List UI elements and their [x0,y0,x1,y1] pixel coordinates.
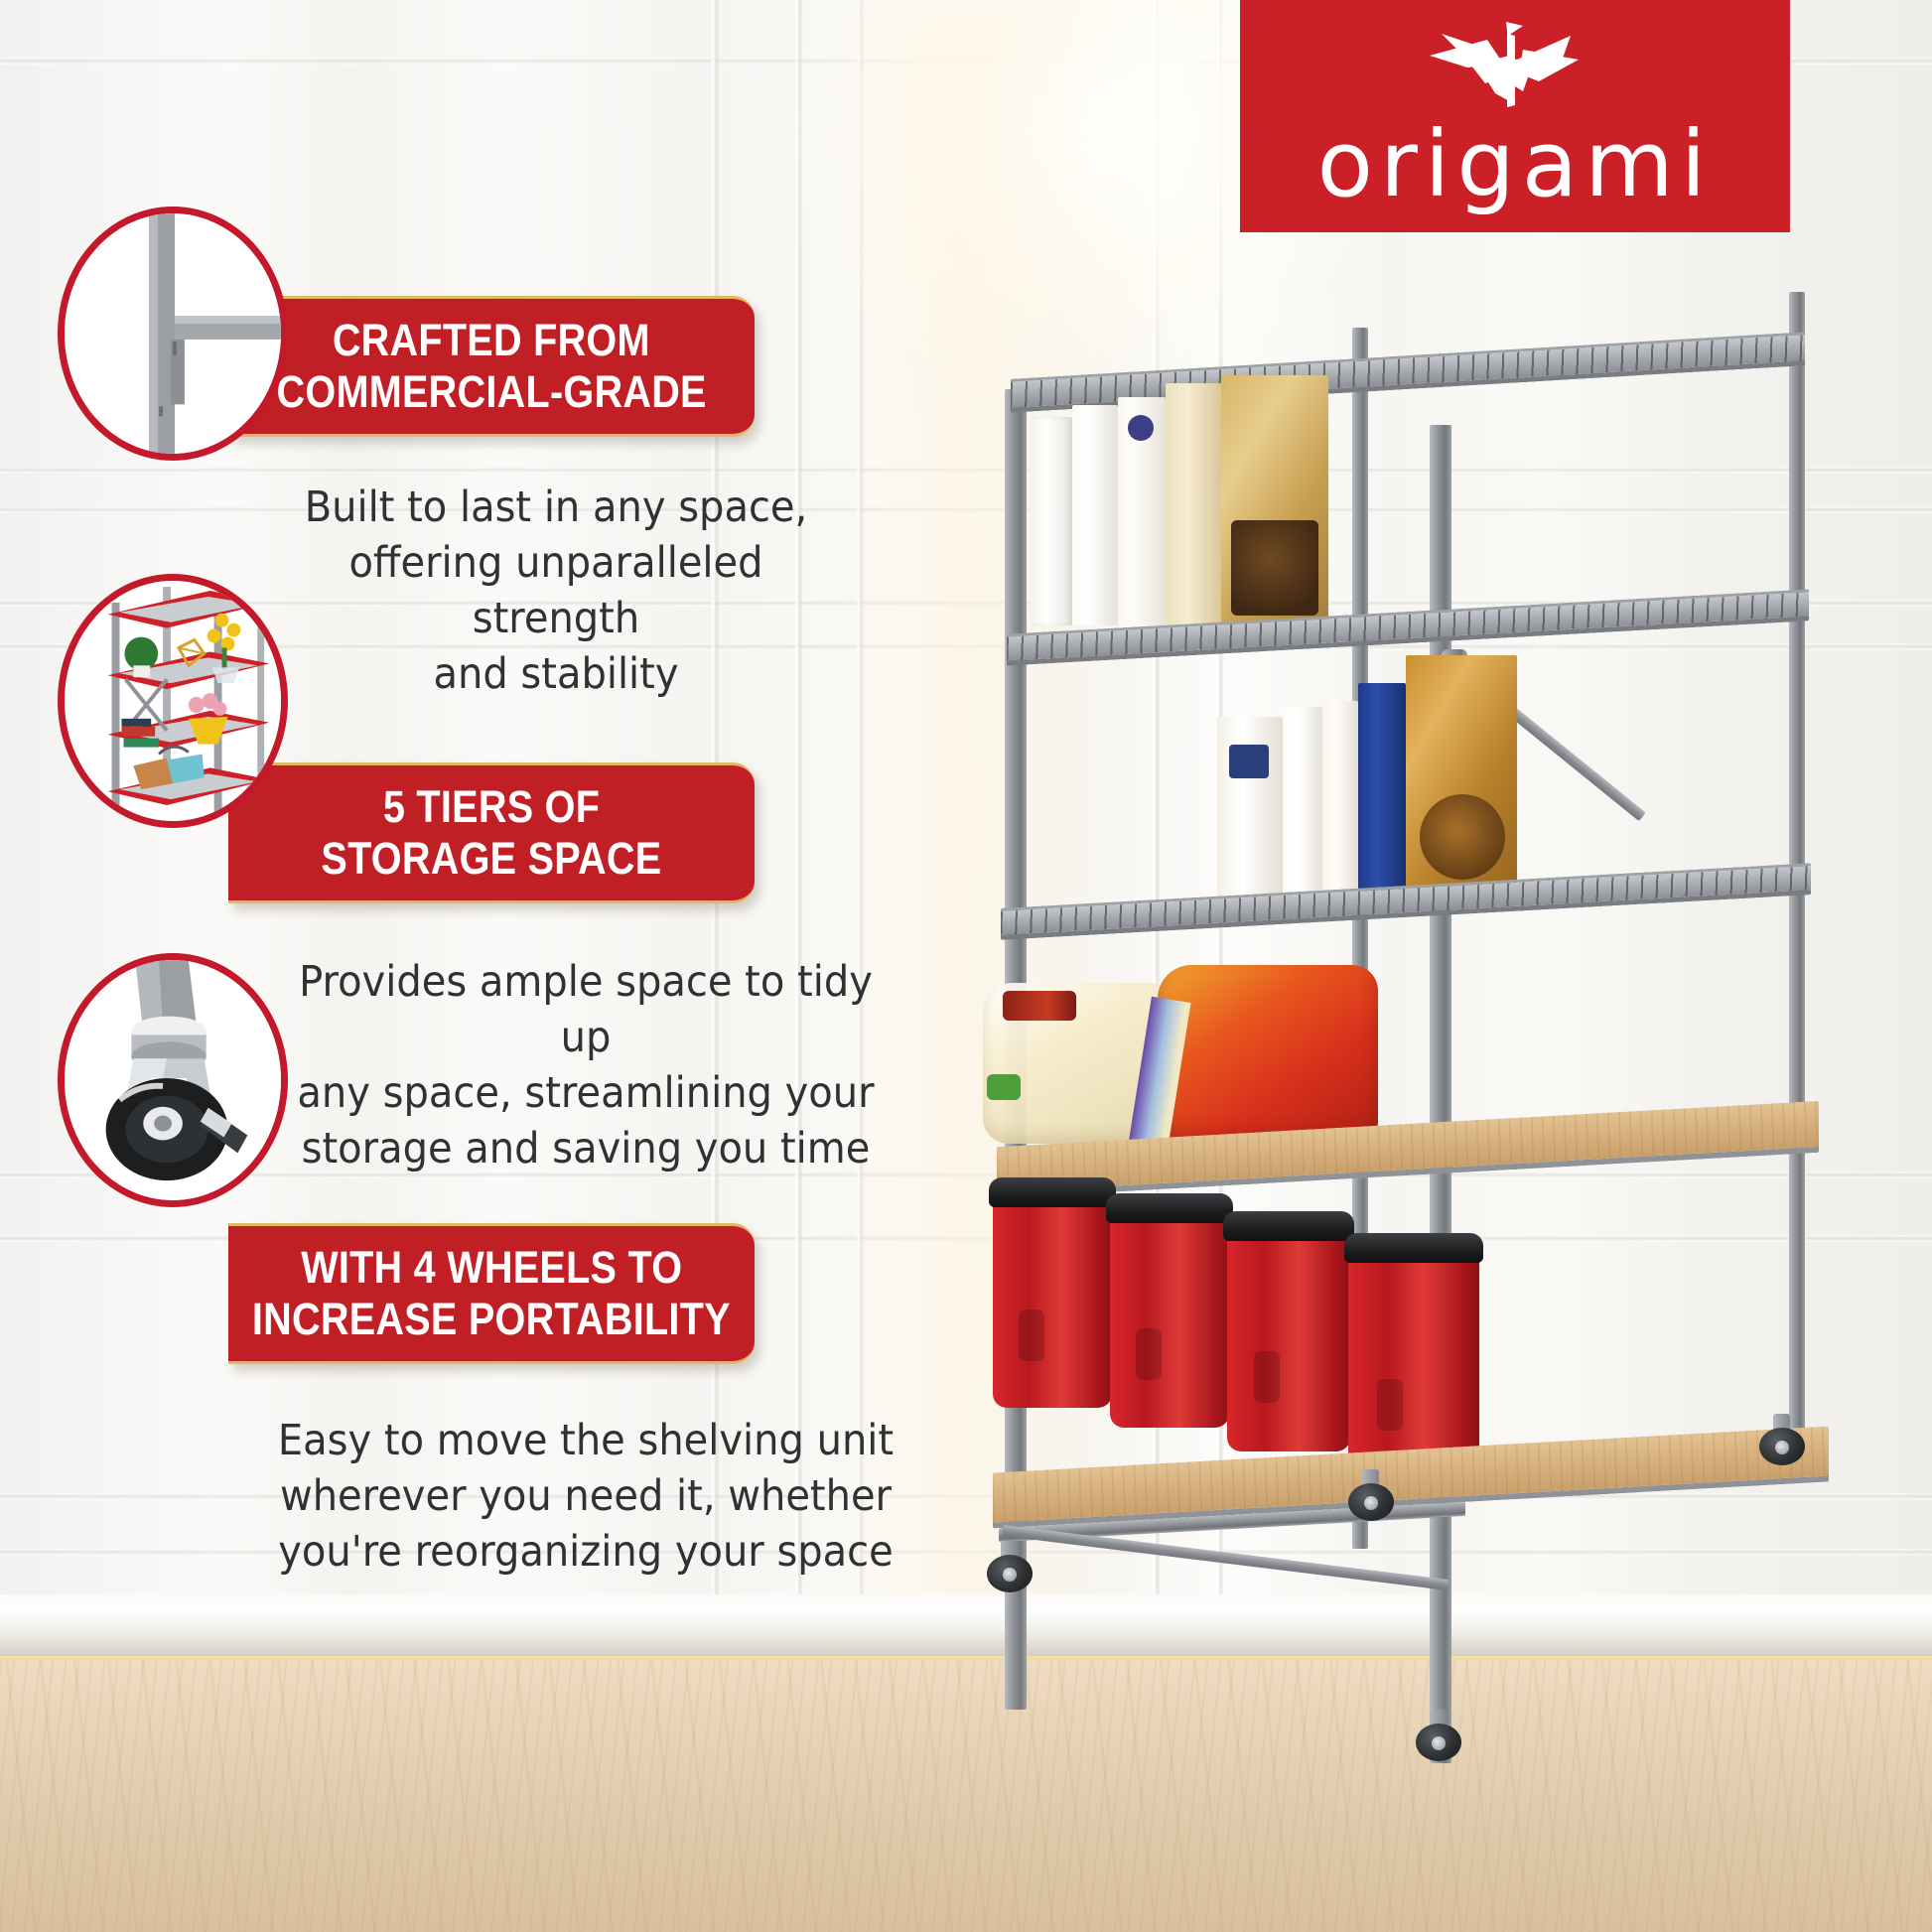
feature-2-banner-line-2: STORAGE SPACE [321,833,661,885]
feature-2-banner-line-1: 5 TIERS OF [383,781,600,833]
canister-grip [1254,1351,1280,1403]
feature-2-description: Provides ample space to tidy up any spac… [272,955,899,1177]
caster-wheel [1348,1469,1394,1521]
feature-3-text-line-1: Easy to move the shelving unit [272,1414,899,1469]
feature-3-text-line-2: wherever you need it, whether [272,1469,899,1525]
blue-cereal-box [1358,683,1406,905]
cereal-box [1166,383,1221,625]
feature-1-banner-line-1: CRAFTED FROM [333,315,650,366]
feature-3-icon-caster-wheel [58,953,288,1207]
feature-2-text-line-2: any space, streamlining your [272,1066,899,1122]
caster-wheel-icon [65,960,281,1200]
caster-wheel [1759,1414,1805,1465]
feature-1-text-line-2: offering unparalleled strength [270,536,843,647]
feature-3-description: Easy to move the shelving unit wherever … [272,1414,899,1581]
feature-1-banner[interactable]: CRAFTED FROM COMMERCIAL-GRADE [228,296,755,437]
granola-box [1221,375,1328,625]
canister-lid [1223,1211,1354,1241]
cracker-box-large [1406,655,1517,905]
cereal-box [1118,397,1166,625]
wall-warm-light [814,0,1142,1660]
red-storage-canister [1110,1213,1229,1428]
canister-grip [1377,1379,1403,1431]
cereal-box [1031,417,1072,625]
feature-2-icon-five-tiers [58,574,288,828]
cafe-style-chips-bag [1158,965,1378,1144]
feature-2-text-line-3: storage and saving you time [272,1122,899,1177]
brand-name: origami [1267,119,1763,210]
cereal-box [1072,405,1118,625]
feature-3-banner[interactable]: WITH 4 WHEELS TO INCREASE PORTABILITY [228,1223,755,1364]
pasta-box [1283,707,1322,905]
shelf-frame-joint-icon [65,213,281,454]
canister-grip [1019,1310,1044,1361]
feature-1-icon-frame-joint [58,207,288,461]
feature-3-banner-line-1: WITH 4 WHEELS TO [301,1242,682,1294]
canister-grip [1136,1328,1162,1380]
canister-lid [1344,1233,1483,1263]
canister-lid [1106,1193,1233,1223]
origami-crane-icon [1412,20,1600,115]
feature-3-text-line-3: you're reorganizing your space [272,1525,899,1581]
five-tier-shelving-icon [65,581,281,821]
brand-logo[interactable]: origami [1240,0,1790,232]
canister-lid [989,1177,1116,1207]
feature-1-text-line-1: Built to last in any space, [270,481,843,536]
feature-2-banner[interactable]: 5 TIERS OF STORAGE SPACE [228,762,755,903]
red-storage-canister [1227,1231,1350,1451]
infographic-canvas: origami [0,0,1932,1932]
feature-3-banner-line-2: INCREASE PORTABILITY [252,1294,731,1345]
feature-2-text-line-1: Provides ample space to tidy up [272,955,899,1066]
feature-1-description: Built to last in any space, offering unp… [270,481,843,703]
cracker-box [1322,701,1358,905]
feature-1-text-line-3: and stability [270,647,843,703]
red-storage-canister [993,1197,1112,1408]
product-photo-shelving-unit [1122,328,1817,1896]
feature-1-banner-line-2: COMMERCIAL-GRADE [276,366,706,418]
caster-wheel [1416,1710,1461,1761]
caster-wheel [987,1541,1033,1592]
pasta-box [1217,717,1283,905]
